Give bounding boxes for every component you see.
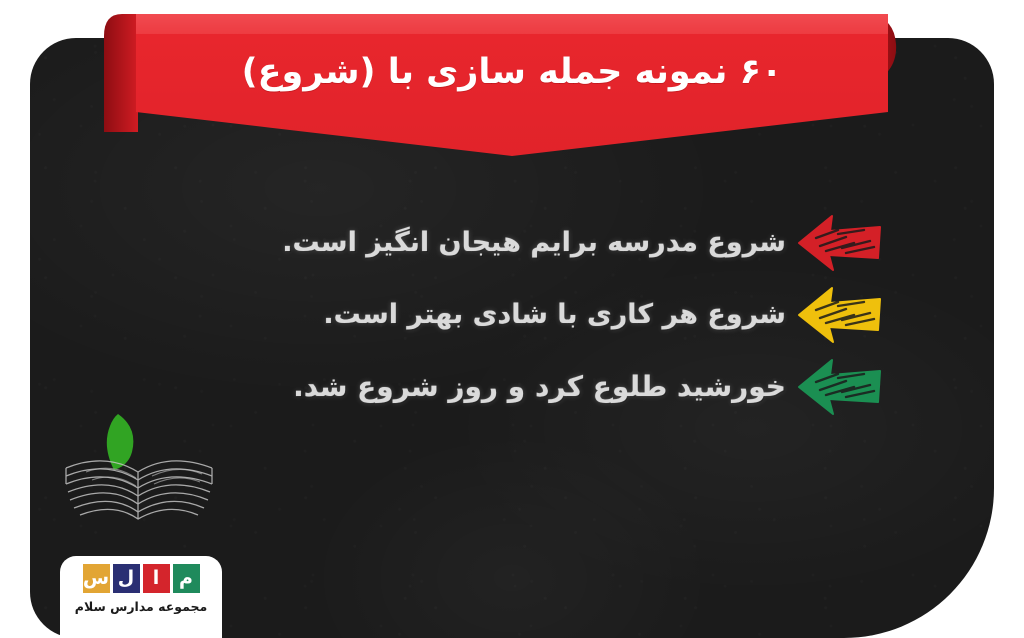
logo-tile: ل (113, 564, 140, 593)
logo-tile-letter: م (179, 569, 193, 588)
logo-tile-letter: ا (153, 569, 160, 588)
logo-letter-tiles: م ا ل س (83, 564, 200, 593)
sentence-row: شروع هر کاری با شادی بهتر است. (130, 278, 890, 350)
sentence-text: شروع هر کاری با شادی بهتر است. (130, 299, 786, 330)
logo-tile-letter: ل (118, 569, 135, 588)
logo-caption: مجموعه مدارس سلام (75, 599, 207, 614)
ribbon-highlight (136, 14, 888, 34)
logo-tile: م (173, 564, 200, 593)
sentence-row: خورشید طلوع کرد و روز شروع شد. (130, 350, 890, 422)
logo-tile-letter: س (83, 569, 109, 588)
poster-canvas: ۶۰ نمونه جمله سازی با (شروع) شروع مدرسه … (0, 0, 1024, 638)
arrow-left-icon (794, 354, 890, 418)
sentence-text: خورشید طلوع کرد و روز شروع شد. (130, 370, 786, 403)
logo-tile: س (83, 564, 110, 593)
sentence-text: شروع مدرسه برایم هیجان انگیز است. (130, 227, 786, 258)
sentence-list: شروع مدرسه برایم هیجان انگیز است. شروع ه… (130, 206, 890, 422)
brand-logo[interactable]: م ا ل س مجموعه مدارس سلام (60, 556, 222, 638)
arrow-left-icon (794, 282, 890, 346)
logo-tile: ا (143, 564, 170, 593)
arrow-left-icon (794, 210, 890, 274)
sentence-row: شروع مدرسه برایم هیجان انگیز است. (130, 206, 890, 278)
